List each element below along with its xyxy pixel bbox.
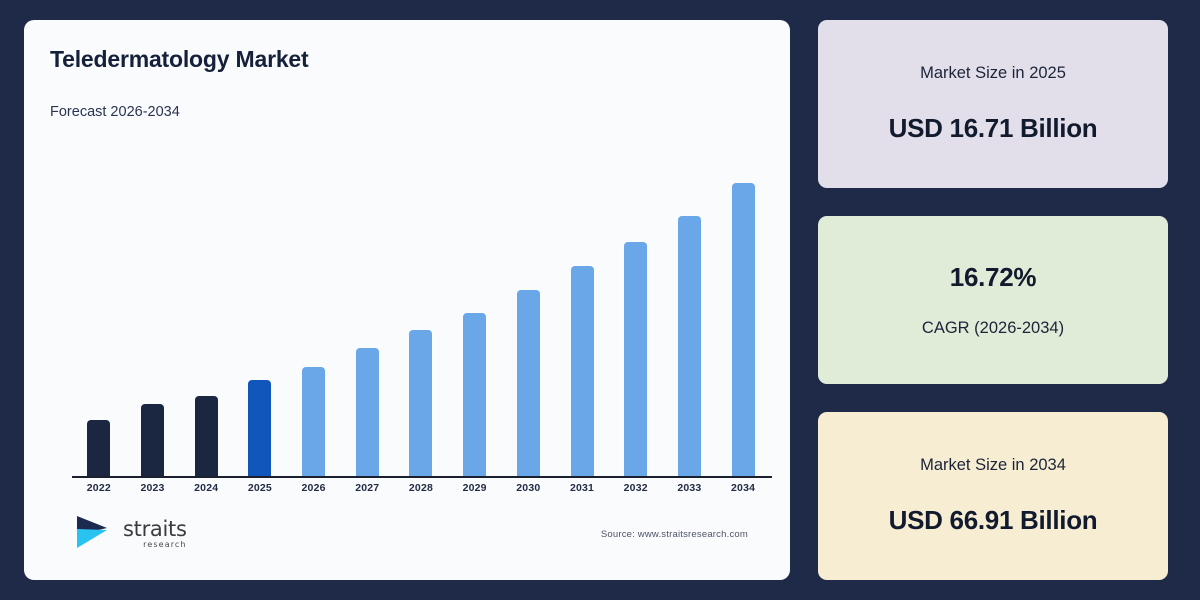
x-label-2026: 2026 [287,482,341,494]
bar-2023[interactable] [141,404,164,476]
bar-2025[interactable] [248,380,271,476]
x-label-2022: 2022 [72,482,126,494]
bar-2031[interactable] [571,266,594,476]
bar-2026[interactable] [302,367,325,476]
bar-2028[interactable] [409,330,432,476]
logo-subword: research [123,541,187,549]
chart-panel: Teledermatology Market Forecast 2026-203… [24,20,790,580]
stat-card-label: CAGR (2026-2034) [922,319,1064,338]
bar-slot [179,148,233,476]
bar-slot [72,148,126,476]
stat-card-label: Market Size in 2034 [920,456,1066,475]
bar-chart-plot-area [72,148,770,476]
source-attribution: Source: www.straitsresearch.com [601,529,766,540]
x-axis-labels: 2022202320242025202620272028202920302031… [72,482,770,494]
infographic-root: Teledermatology Market Forecast 2026-203… [0,0,1200,600]
x-label-2023: 2023 [126,482,180,494]
x-label-2025: 2025 [233,482,287,494]
bar-slot [663,148,717,476]
x-label-2029: 2029 [448,482,502,494]
bar-slot [448,148,502,476]
bar-2033[interactable] [678,216,701,476]
logo-wordmark: straits research [123,519,187,549]
stat-card-market-size-2034: Market Size in 2034USD 66.91 Billion [818,412,1168,580]
bar-series [72,148,770,476]
bar-slot [609,148,663,476]
bar-slot [716,148,770,476]
bar-slot [340,148,394,476]
bar-2022[interactable] [87,420,110,476]
stat-card-value: USD 16.71 Billion [889,113,1098,144]
bar-2024[interactable] [195,396,218,476]
logo-word: straits [123,517,187,541]
bar-slot [502,148,556,476]
straits-research-logo: straits research [48,513,187,556]
stat-card-cagr: 16.72%CAGR (2026-2034) [818,216,1168,384]
x-label-2034: 2034 [716,482,770,494]
x-label-2024: 2024 [179,482,233,494]
arrow-logo-icon [74,513,116,556]
x-label-2027: 2027 [340,482,394,494]
bar-2034[interactable] [732,183,755,476]
stat-card-value: USD 66.91 Billion [889,505,1098,536]
stat-card-market-size-2025: Market Size in 2025USD 16.71 Billion [818,20,1168,188]
x-label-2033: 2033 [663,482,717,494]
chart-footer: straits research Source: www.straitsrese… [48,510,766,558]
x-label-2032: 2032 [609,482,663,494]
x-label-2031: 2031 [555,482,609,494]
stat-cards: Market Size in 2025USD 16.71 Billion16.7… [818,20,1168,580]
stat-card-label: Market Size in 2025 [920,64,1066,83]
bar-2030[interactable] [517,290,540,476]
bar-2027[interactable] [356,348,379,476]
bar-slot [233,148,287,476]
bar-slot [287,148,341,476]
x-label-2028: 2028 [394,482,448,494]
bar-2032[interactable] [624,242,647,476]
bar-slot [555,148,609,476]
bar-slot [126,148,180,476]
chart-subtitle: Forecast 2026-2034 [48,104,766,120]
x-label-2030: 2030 [502,482,556,494]
bar-2029[interactable] [463,313,486,476]
page-title: Teledermatology Market [48,46,766,73]
bar-slot [394,148,448,476]
x-axis-line [72,476,772,478]
stat-card-value: 16.72% [950,262,1036,293]
